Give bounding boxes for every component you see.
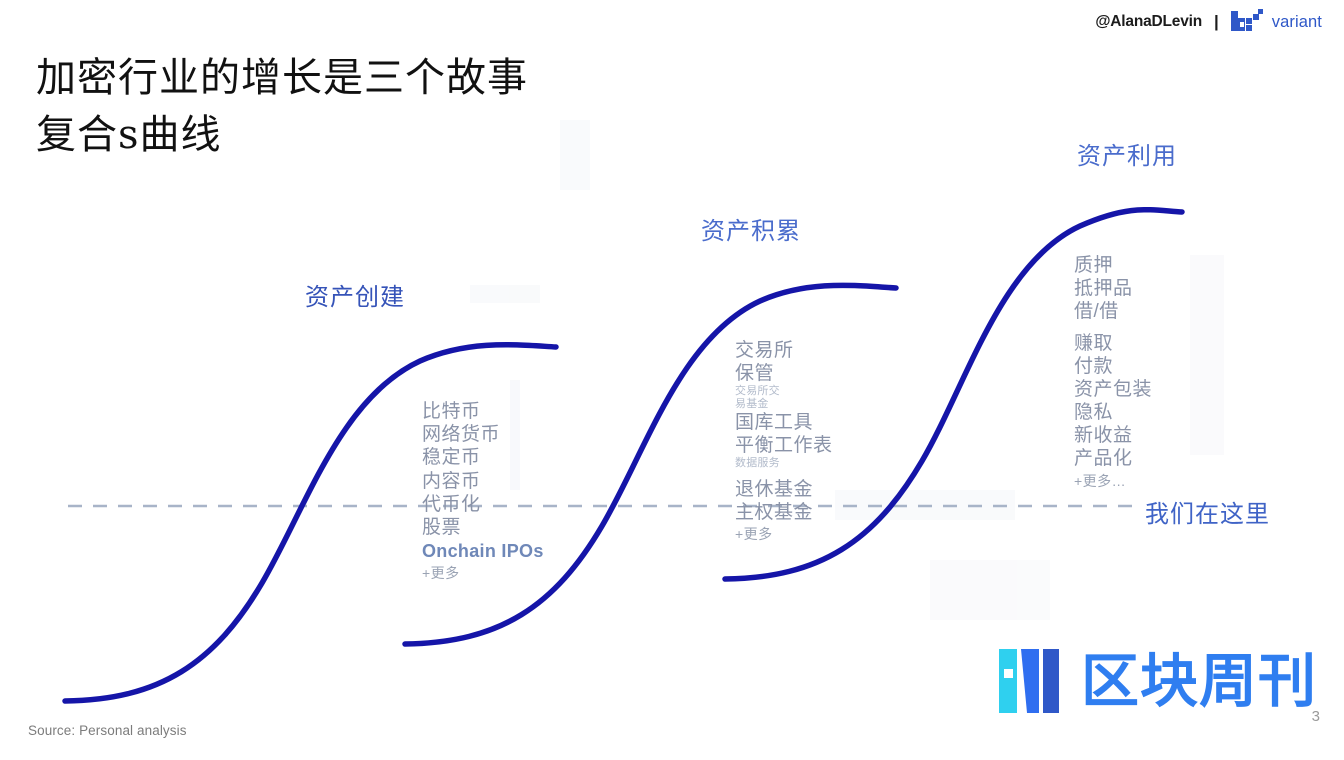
you-are-here-annotation: 我们在这里 — [1145, 494, 1270, 529]
list-item-more: +更多 — [422, 563, 544, 584]
list-item: 比特币 — [422, 400, 544, 423]
page-number: 3 — [1312, 708, 1320, 725]
list-item: 抵押品 — [1074, 277, 1152, 300]
list-item: 网络货币 — [422, 423, 544, 446]
stage-label-asset-creation: 资产创建 — [305, 277, 405, 312]
list-item: 产品化 — [1074, 447, 1152, 470]
list-item-faint: 交易所交 — [735, 385, 833, 398]
list-item: 质押 — [1074, 254, 1152, 277]
list-item-onchain-ipos: Onchain IPOs — [422, 539, 544, 563]
list-item: 付款 — [1074, 355, 1152, 378]
blockweekly-bars-icon — [995, 645, 1075, 717]
list-item: 股票 — [422, 516, 544, 539]
list-item-more: +更多 — [735, 524, 833, 545]
list-item: 赚取 — [1074, 332, 1152, 355]
list-item: 资产包装 — [1074, 378, 1152, 401]
list-item: 退休基金 — [735, 478, 833, 501]
list-item-faint: 易基金 — [735, 398, 833, 411]
source-note: Source: Personal analysis — [28, 723, 187, 738]
list-item: 保管 — [735, 362, 833, 385]
stage-label-asset-utilization: 资产利用 — [1077, 136, 1177, 171]
item-list-asset-accumulation: 交易所 保管 交易所交 易基金 国库工具 平衡工作表 数据服务 退休基金 主权基… — [735, 339, 833, 545]
list-item: 新收益 — [1074, 424, 1152, 447]
list-item: 主权基金 — [735, 501, 833, 524]
item-list-asset-utilization: 质押 抵押品 借/借 赚取 付款 资产包装 隐私 新收益 产品化 +更多… — [1074, 254, 1152, 492]
list-item: 交易所 — [735, 339, 833, 362]
list-item: 内容币 — [422, 470, 544, 493]
list-item: 平衡工作表 — [735, 434, 833, 457]
list-item: 隐私 — [1074, 401, 1152, 424]
blockweekly-wordmark: 区块周刊 — [1081, 652, 1317, 710]
list-item: 稳定币 — [422, 446, 544, 469]
list-item: 代币化 — [422, 493, 544, 516]
list-item-more: +更多… — [1074, 471, 1152, 492]
list-item-faint: 数据服务 — [735, 457, 833, 470]
item-list-asset-creation: 比特币 网络货币 稳定币 内容币 代币化 股票 Onchain IPOs +更多 — [422, 400, 544, 584]
blockweekly-watermark-logo: 区块周刊 — [995, 645, 1317, 717]
list-item: 借/借 — [1074, 300, 1152, 323]
stage-label-asset-accumulation: 资产积累 — [701, 211, 801, 246]
list-item: 国库工具 — [735, 411, 833, 434]
